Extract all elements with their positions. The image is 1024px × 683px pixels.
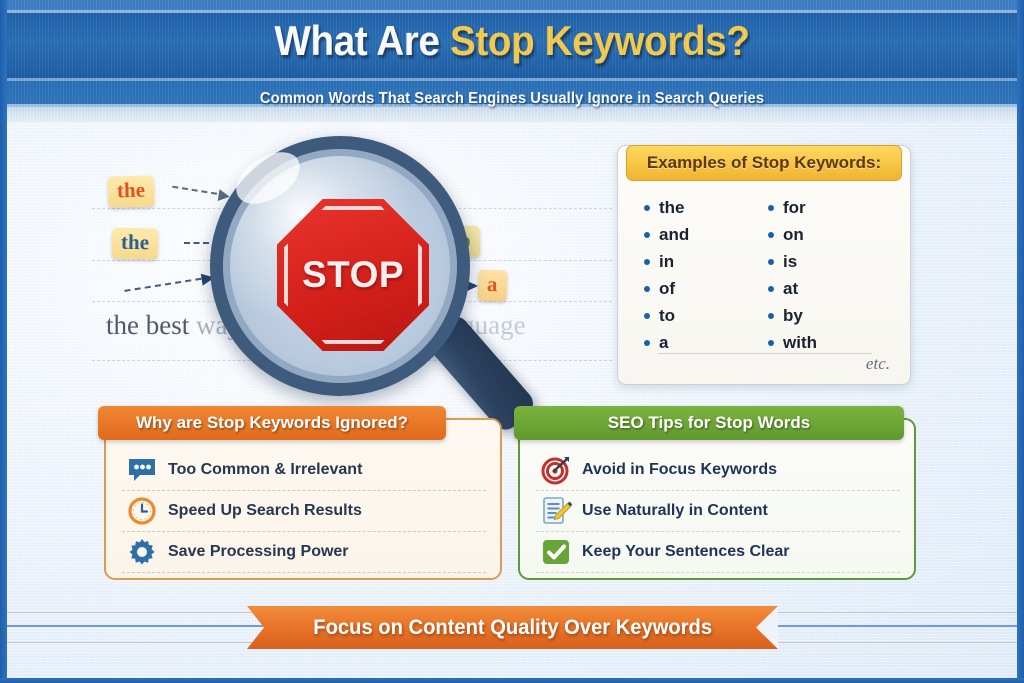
list-item: for xyxy=(768,194,892,221)
check-mark-icon xyxy=(536,535,576,569)
target-dart-icon xyxy=(536,453,576,487)
page-title-part1: What Are xyxy=(274,17,450,64)
examples-columns: the and in of to a for on is at by with xyxy=(644,194,892,356)
list-item: the xyxy=(644,194,768,221)
list-item-label: Too Common & Irrelevant xyxy=(168,461,362,479)
magnifier-lens: STOP xyxy=(210,136,470,396)
list-item-label: by xyxy=(783,306,803,326)
bullet-icon xyxy=(644,286,650,292)
word-tag-the-2: the xyxy=(112,228,159,260)
magnifying-glass-icon: STOP xyxy=(210,136,510,436)
list-item: and xyxy=(644,221,768,248)
bullet-icon xyxy=(768,340,774,346)
list-item-label: is xyxy=(783,252,797,272)
list-item: Avoid in Focus Keywords xyxy=(536,450,900,491)
infographic-page: What Are Stop Keywords? Common Words Tha… xyxy=(0,0,1024,683)
list-item: of xyxy=(644,275,768,302)
stop-sign-label: STOP xyxy=(302,254,404,296)
list-item: Save Processing Power xyxy=(122,532,486,573)
list-item: to xyxy=(644,302,768,329)
list-item: Speed Up Search Results xyxy=(122,491,486,532)
panel-seo-tips: SEO Tips for Stop Words Avoid in Focus K… xyxy=(518,418,916,580)
list-item: Keep Your Sentences Clear xyxy=(536,532,900,573)
magnifier-illustration: the best way to learn language the the t… xyxy=(92,138,612,390)
panel-why-rows: Too Common & Irrelevant Speed Up Search … xyxy=(122,450,486,573)
clock-icon xyxy=(122,494,162,528)
list-item: with xyxy=(768,329,892,356)
list-item: Too Common & Irrelevant xyxy=(122,450,486,491)
bullet-icon xyxy=(644,205,650,211)
bullet-icon xyxy=(768,313,774,319)
list-item-label: of xyxy=(659,279,675,299)
divider xyxy=(658,353,872,354)
bullet-icon xyxy=(768,286,774,292)
examples-column-right: for on is at by with xyxy=(768,194,892,356)
list-item-label: Keep Your Sentences Clear xyxy=(582,543,790,561)
page-subtitle: Common Words That Search Engines Usually… xyxy=(26,90,999,108)
word-tag-the-1: the xyxy=(108,175,155,207)
arrow-icon xyxy=(124,276,211,292)
stop-sign-icon: STOP xyxy=(277,199,429,351)
list-item-label: to xyxy=(659,306,675,326)
sentence-strong: the best xyxy=(106,310,189,340)
panel-why-ignored: Why are Stop Keywords Ignored? Too Commo… xyxy=(104,418,502,580)
list-item: a xyxy=(644,329,768,356)
document-pencil-icon xyxy=(536,494,576,528)
list-item-label: Avoid in Focus Keywords xyxy=(582,461,777,479)
list-item-label: Use Naturally in Content xyxy=(582,502,768,520)
right-border xyxy=(1017,0,1024,683)
footer-ribbon: Focus on Content Quality Over Keywords xyxy=(247,606,778,649)
list-item-label: at xyxy=(783,279,798,299)
panel-why-heading: Why are Stop Keywords Ignored? xyxy=(98,406,446,440)
list-item: Use Naturally in Content xyxy=(536,491,900,532)
list-item-label: and xyxy=(659,225,689,245)
list-item: by xyxy=(768,302,892,329)
list-item: at xyxy=(768,275,892,302)
list-item: in xyxy=(644,248,768,275)
speech-bubble-icon xyxy=(122,453,162,487)
examples-column-left: the and in of to a xyxy=(644,194,768,356)
examples-footnote: etc. xyxy=(866,354,890,374)
bullet-icon xyxy=(768,232,774,238)
footer-ribbon-label: Focus on Content Quality Over Keywords xyxy=(313,616,712,640)
list-item-label: a xyxy=(659,333,668,353)
ribbon-notch xyxy=(756,606,778,649)
bullet-icon xyxy=(768,205,774,211)
page-title-part2: Stop Keywords? xyxy=(450,17,750,64)
bullet-icon xyxy=(644,313,650,319)
bullet-icon xyxy=(768,259,774,265)
list-item: is xyxy=(768,248,892,275)
left-border xyxy=(0,0,7,683)
examples-card-heading: Examples of Stop Keywords: xyxy=(626,145,902,181)
page-title: What Are Stop Keywords? xyxy=(41,17,983,65)
list-item-label: the xyxy=(659,198,685,218)
header-banner: What Are Stop Keywords? Common Words Tha… xyxy=(0,0,1024,122)
list-item-label: with xyxy=(783,333,817,353)
list-item-label: in xyxy=(659,252,674,272)
gear-icon xyxy=(122,535,162,569)
list-item: on xyxy=(768,221,892,248)
bullet-icon xyxy=(644,259,650,265)
bottom-border xyxy=(0,678,1024,683)
panel-seo-heading: SEO Tips for Stop Words xyxy=(514,406,904,440)
list-item-label: Speed Up Search Results xyxy=(168,502,362,520)
panel-seo-rows: Avoid in Focus Keywords Use Naturally in… xyxy=(536,450,900,573)
list-item-label: for xyxy=(783,198,806,218)
list-item-label: on xyxy=(783,225,804,245)
list-item-label: Save Processing Power xyxy=(168,543,349,561)
bullet-icon xyxy=(644,232,650,238)
bullet-icon xyxy=(644,340,650,346)
examples-card: Examples of Stop Keywords: the and in of… xyxy=(617,145,911,385)
